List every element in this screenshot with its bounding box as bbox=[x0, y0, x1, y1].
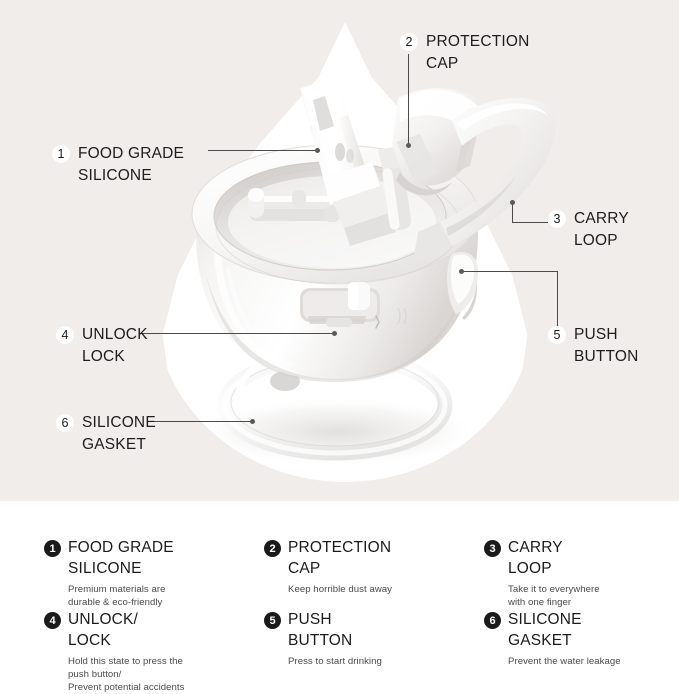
legend-item-5: 5 PUSH BUTTON Press to start drinking bbox=[264, 609, 474, 668]
legend-item-1-title: FOOD GRADE SILICONE bbox=[68, 537, 174, 580]
product-hero-section: 1 FOOD GRADE SILICONE 2 PROTECTION CAP 3… bbox=[0, 0, 679, 501]
legend-item-6-number: 6 bbox=[484, 612, 501, 629]
callout-4-unlock-lock[interactable]: 4 UNLOCK LOCK bbox=[56, 324, 148, 368]
legend-item-2-number: 2 bbox=[264, 540, 281, 557]
callout-4-label: UNLOCK LOCK bbox=[82, 324, 148, 368]
callout-5-label: PUSH BUTTON bbox=[574, 324, 639, 368]
callout-2-protection-cap[interactable]: 2 PROTECTION CAP bbox=[400, 31, 529, 75]
callout-3-label: CARRY LOOP bbox=[574, 208, 629, 252]
legend-item-1-description: Premium materials are durable & eco-frie… bbox=[68, 583, 254, 609]
legend-item-2-description: Keep horrible dust away bbox=[288, 583, 474, 596]
legend-item-3-title: CARRY LOOP bbox=[508, 537, 563, 580]
callout-6-label: SILICONE GASKET bbox=[82, 412, 156, 456]
callout-1-food-grade-silicone[interactable]: 1 FOOD GRADE SILICONE bbox=[52, 143, 184, 187]
unlock-lock-slider-part bbox=[300, 282, 380, 328]
callout-4-number: 4 bbox=[56, 326, 74, 344]
protection-cap-part bbox=[392, 88, 484, 195]
legend-item-4-description: Hold this state to press the push button… bbox=[68, 655, 259, 694]
callout-1-label: FOOD GRADE SILICONE bbox=[78, 143, 184, 187]
legend-item-2-title: PROTECTION CAP bbox=[288, 537, 391, 580]
legend-item-6: 6 SILICONE GASKET Prevent the water leak… bbox=[484, 609, 679, 668]
legend-item-5-title: PUSH BUTTON bbox=[288, 609, 352, 652]
legend-item-1: 1 FOOD GRADE SILICONE Premium materials … bbox=[44, 537, 254, 609]
callout-2-label: PROTECTION CAP bbox=[426, 31, 529, 75]
callout-3-number: 3 bbox=[548, 210, 566, 228]
legend-item-1-number: 1 bbox=[44, 540, 61, 557]
legend-item-5-number: 5 bbox=[264, 612, 281, 629]
callout-2-number: 2 bbox=[400, 33, 418, 51]
legend-item-4-title: UNLOCK/ LOCK bbox=[68, 609, 138, 652]
callout-6-number: 6 bbox=[56, 414, 74, 432]
legend-item-3: 3 CARRY LOOP Take it to everywhere with … bbox=[484, 537, 679, 609]
callout-1-number: 1 bbox=[52, 145, 70, 163]
callout-5-push-button[interactable]: 5 PUSH BUTTON bbox=[548, 324, 639, 368]
callout-6-silicone-gasket[interactable]: 6 SILICONE GASKET bbox=[56, 412, 156, 456]
legend-item-3-number: 3 bbox=[484, 540, 501, 557]
legend-item-3-description: Take it to everywhere with one finger bbox=[508, 583, 679, 609]
legend-item-6-title: SILICONE GASKET bbox=[508, 609, 582, 652]
legend-item-4-number: 4 bbox=[44, 612, 61, 629]
legend-item-4: 4 UNLOCK/ LOCK Hold this state to press … bbox=[44, 609, 259, 694]
callout-3-carry-loop[interactable]: 3 CARRY LOOP bbox=[548, 208, 629, 252]
legend-item-2: 2 PROTECTION CAP Keep horrible dust away bbox=[264, 537, 474, 596]
feature-legend-section: 1 FOOD GRADE SILICONE Premium materials … bbox=[0, 501, 679, 666]
callout-5-number: 5 bbox=[548, 326, 566, 344]
